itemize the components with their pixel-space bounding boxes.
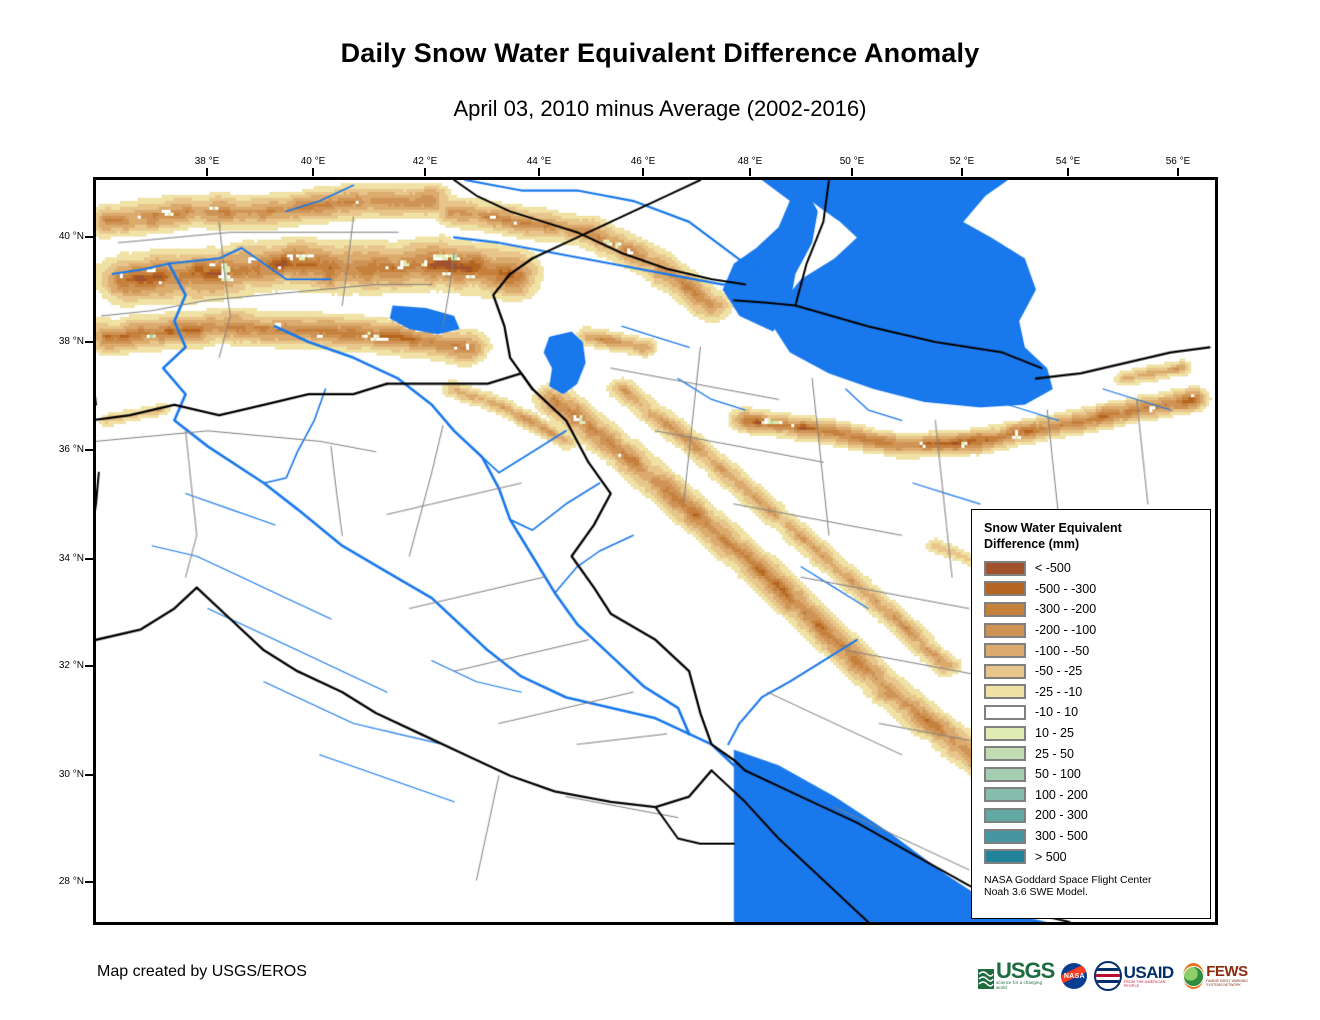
longitude-tick xyxy=(206,168,208,176)
legend-swatch xyxy=(984,726,1026,741)
legend-label: -50 - -25 xyxy=(1035,664,1082,678)
longitude-label: 52 °E xyxy=(939,156,985,167)
legend-source: NASA Goddard Space Flight Center Noah 3.… xyxy=(984,874,1200,899)
logo-bar: USGS science for a changing world NASA U… xyxy=(978,956,1208,996)
legend-row: -300 - -200 xyxy=(984,599,1200,620)
legend-swatch xyxy=(984,849,1026,864)
legend-label: -10 - 10 xyxy=(1035,705,1078,719)
latitude-tick xyxy=(85,236,93,238)
latitude-tick xyxy=(85,665,93,667)
legend-label: 50 - 100 xyxy=(1035,767,1081,781)
latitude-label: 30 °N xyxy=(40,769,84,780)
legend-panel: Snow Water Equivalent Difference (mm) < … xyxy=(971,509,1211,919)
legend-label: -200 - -100 xyxy=(1035,623,1096,637)
longitude-tick xyxy=(851,168,853,176)
legend-label: < -500 xyxy=(1035,561,1071,575)
longitude-tick xyxy=(538,168,540,176)
longitude-label: 54 °E xyxy=(1045,156,1091,167)
page-title: Daily Snow Water Equivalent Difference A… xyxy=(0,38,1320,69)
legend-swatch xyxy=(984,664,1026,679)
legend-row: 300 - 500 xyxy=(984,826,1200,847)
usaid-logo: USAID FROM THE AMERICAN PEOPLE xyxy=(1094,959,1176,993)
usgs-wave-icon xyxy=(978,968,994,990)
legend-label: > 500 xyxy=(1035,850,1067,864)
longitude-label: 56 °E xyxy=(1155,156,1201,167)
legend-swatch xyxy=(984,643,1026,658)
legend-row: -200 - -100 xyxy=(984,620,1200,641)
longitude-tick xyxy=(424,168,426,176)
nasa-meatball-icon: NASA xyxy=(1061,963,1087,989)
latitude-tick xyxy=(85,558,93,560)
fewsnet-wordmark: FEWS xyxy=(1206,965,1252,979)
longitude-tick xyxy=(749,168,751,176)
latitude-tick xyxy=(85,341,93,343)
legend-label: -25 - -10 xyxy=(1035,685,1082,699)
longitude-tick xyxy=(961,168,963,176)
legend-row: 50 - 100 xyxy=(984,764,1200,785)
legend-swatch xyxy=(984,746,1026,761)
legend-row: -50 - -25 xyxy=(984,661,1200,682)
legend-label: 25 - 50 xyxy=(1035,747,1074,761)
legend-swatch xyxy=(984,705,1026,720)
legend-rows: < -500-500 - -300-300 - -200-200 - -100-… xyxy=(984,558,1200,867)
legend-swatch xyxy=(984,808,1026,823)
longitude-label: 46 °E xyxy=(620,156,666,167)
map-credit: Map created by USGS/EROS xyxy=(97,963,307,981)
longitude-label: 50 °E xyxy=(829,156,875,167)
legend-swatch xyxy=(984,767,1026,782)
fewsnet-tagline: FAMINE EARLY WARNING SYSTEMS NETWORK xyxy=(1206,979,1252,987)
legend-title: Snow Water Equivalent Difference (mm) xyxy=(984,520,1200,552)
longitude-label: 40 °E xyxy=(290,156,336,167)
legend-row: 25 - 50 xyxy=(984,743,1200,764)
legend-row: -25 - -10 xyxy=(984,682,1200,703)
page-subtitle: April 03, 2010 minus Average (2002-2016) xyxy=(0,96,1320,122)
nasa-wordmark: NASA xyxy=(1064,973,1085,980)
legend-row: 200 - 300 xyxy=(984,805,1200,826)
legend-label: 300 - 500 xyxy=(1035,829,1088,843)
legend-row: 100 - 200 xyxy=(984,785,1200,806)
latitude-label: 32 °N xyxy=(40,660,84,671)
legend-row: 10 - 25 xyxy=(984,723,1200,744)
legend-row: < -500 xyxy=(984,558,1200,579)
longitude-tick xyxy=(1067,168,1069,176)
legend-swatch xyxy=(984,684,1026,699)
usaid-seal-icon xyxy=(1094,961,1121,991)
longitude-tick xyxy=(642,168,644,176)
legend-label: 200 - 300 xyxy=(1035,808,1088,822)
legend-label: 10 - 25 xyxy=(1035,726,1074,740)
latitude-label: 34 °N xyxy=(40,553,84,564)
latitude-label: 40 °N xyxy=(40,231,84,242)
longitude-label: 44 °E xyxy=(516,156,562,167)
legend-swatch xyxy=(984,623,1026,638)
latitude-label: 28 °N xyxy=(40,876,84,887)
latitude-tick xyxy=(85,449,93,451)
legend-label: -500 - -300 xyxy=(1035,582,1096,596)
legend-swatch xyxy=(984,602,1026,617)
nasa-logo: NASA xyxy=(1061,959,1087,993)
fewsnet-globe-icon xyxy=(1183,963,1204,989)
legend-swatch xyxy=(984,787,1026,802)
longitude-tick xyxy=(1177,168,1179,176)
longitude-label: 48 °E xyxy=(727,156,773,167)
latitude-label: 38 °N xyxy=(40,336,84,347)
legend-label: 100 - 200 xyxy=(1035,788,1088,802)
legend-label: -100 - -50 xyxy=(1035,644,1089,658)
legend-row: -10 - 10 xyxy=(984,702,1200,723)
latitude-tick xyxy=(85,881,93,883)
fewsnet-logo: FEWS FAMINE EARLY WARNING SYSTEMS NETWOR… xyxy=(1183,959,1252,993)
usgs-wordmark: USGS xyxy=(996,962,1054,980)
legend-row: -100 - -50 xyxy=(984,640,1200,661)
legend-row: > 500 xyxy=(984,846,1200,867)
usgs-logo: USGS science for a changing world xyxy=(978,959,1054,993)
legend-swatch xyxy=(984,581,1026,596)
latitude-label: 36 °N xyxy=(40,444,84,455)
latitude-tick xyxy=(85,774,93,776)
longitude-label: 38 °E xyxy=(184,156,230,167)
usaid-wordmark: USAID xyxy=(1124,965,1177,980)
legend-swatch xyxy=(984,561,1026,576)
longitude-label: 42 °E xyxy=(402,156,448,167)
longitude-tick xyxy=(312,168,314,176)
legend-row: -500 - -300 xyxy=(984,579,1200,600)
legend-label: -300 - -200 xyxy=(1035,602,1096,616)
legend-swatch xyxy=(984,829,1026,844)
